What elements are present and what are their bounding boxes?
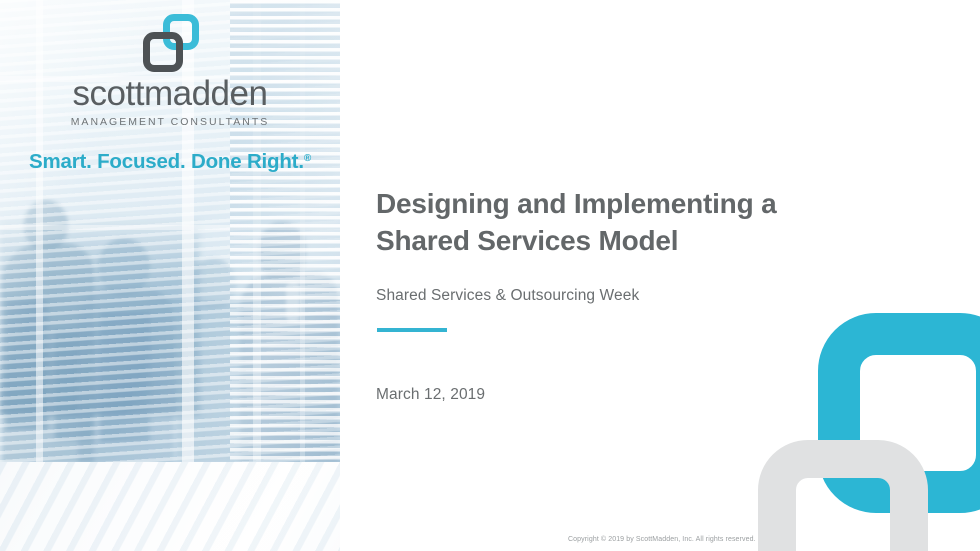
slide-date: March 12, 2019 bbox=[376, 386, 485, 404]
slide-subtitle: Shared Services & Outsourcing Week bbox=[376, 287, 639, 305]
brand-tagline: Smart. Focused. Done Right.® bbox=[0, 150, 340, 174]
copyright-notice: Copyright © 2019 by ScottMadden, Inc. Al… bbox=[568, 536, 756, 543]
brand-tagline-text: Smart. Focused. Done Right. bbox=[29, 150, 304, 173]
title-divider-rule bbox=[377, 328, 447, 332]
brand-wordmark: scottmadden bbox=[0, 76, 340, 111]
logo-square-gray-icon bbox=[143, 32, 183, 72]
page-title: Designing and Implementing a Shared Serv… bbox=[376, 186, 836, 260]
brand-logo-block: scottmadden MANAGEMENT CONSULTANTS Smart… bbox=[0, 14, 340, 174]
registered-trademark-symbol: ® bbox=[304, 153, 311, 164]
brand-wordmark-subtitle: MANAGEMENT CONSULTANTS bbox=[0, 116, 340, 128]
scottmadden-logo-icon bbox=[135, 14, 205, 72]
photo-lower-reflection-panel bbox=[0, 462, 340, 551]
title-slide: scottmadden MANAGEMENT CONSULTANTS Smart… bbox=[0, 0, 980, 551]
slide-content: Designing and Implementing a Shared Serv… bbox=[376, 0, 936, 551]
